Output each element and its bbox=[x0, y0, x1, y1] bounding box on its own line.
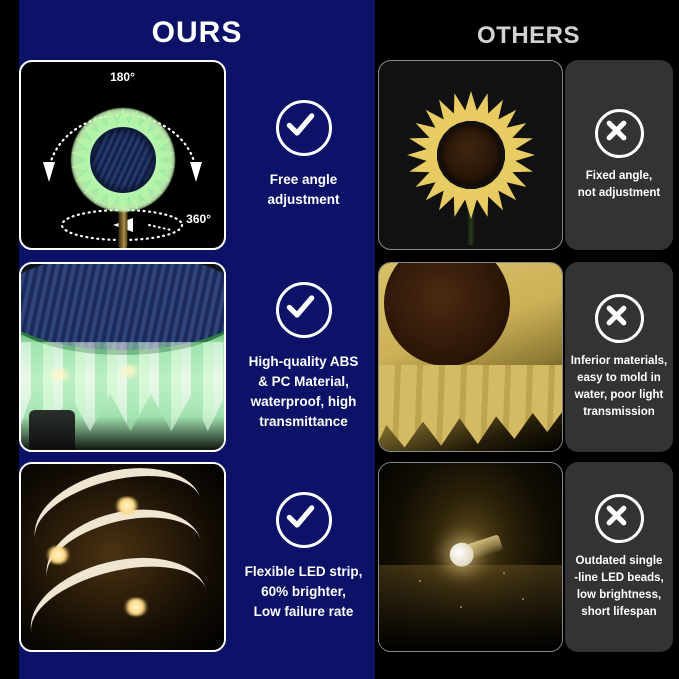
rotation-angle-label: 360° bbox=[186, 212, 211, 226]
light-base bbox=[29, 410, 75, 450]
led-glow bbox=[123, 598, 149, 616]
sunflower-macro-illustration bbox=[379, 263, 562, 451]
ours-caption: Flexible LED strip,60% brighter,Low fail… bbox=[243, 562, 365, 622]
wet-ground bbox=[379, 565, 562, 651]
ours-caption: High-quality ABS& PC Material,waterproof… bbox=[247, 352, 361, 432]
others-image-card bbox=[378, 60, 563, 250]
comparison-row: Flexible LED strip,60% brighter,Low fail… bbox=[0, 462, 679, 656]
check-circle-icon bbox=[276, 100, 332, 156]
headings-row: OURS OTHERS bbox=[0, 0, 679, 62]
rotation-diagram-illustration: 180° 360° bbox=[21, 62, 224, 248]
translucent-petals-illustration bbox=[21, 264, 224, 450]
water-speck bbox=[460, 606, 462, 608]
led-strip-illustration bbox=[21, 464, 224, 650]
ours-feature-block: Flexible LED strip,60% brighter,Low fail… bbox=[232, 462, 375, 652]
ours-title: OURS bbox=[19, 16, 375, 50]
ours-feature-block: High-quality ABS& PC Material,waterproof… bbox=[232, 262, 375, 452]
others-caption: Fixed angle,not adjustment bbox=[575, 168, 663, 202]
comparison-row: 180° 360° Free angleadjustment bbox=[0, 60, 679, 254]
solar-flower-head bbox=[71, 108, 175, 212]
others-image-card bbox=[378, 262, 563, 452]
solar-panel-disc bbox=[19, 262, 226, 355]
cross-circle-icon bbox=[595, 494, 644, 543]
ours-image-card: 180° 360° bbox=[19, 60, 226, 250]
others-caption: Outdated single-line LED beads,low brigh… bbox=[571, 553, 666, 621]
others-caption: Inferior materials,easy to mold inwater,… bbox=[568, 353, 671, 421]
sunflower-center bbox=[384, 262, 510, 366]
check-circle-icon bbox=[276, 282, 332, 338]
cross-circle-icon bbox=[595, 109, 644, 158]
sunflower-center bbox=[440, 124, 502, 186]
others-feature-block: Fixed angle,not adjustment bbox=[565, 60, 673, 250]
led-glow bbox=[45, 546, 71, 564]
ours-caption: Free angleadjustment bbox=[265, 170, 341, 210]
ours-image-card bbox=[19, 262, 226, 452]
comparison-row: High-quality ABS& PC Material,waterproof… bbox=[0, 262, 679, 456]
check-circle-icon bbox=[276, 492, 332, 548]
others-feature-block: Outdated single-line LED beads,low brigh… bbox=[565, 462, 673, 652]
solar-panel-disc bbox=[90, 127, 156, 193]
others-image-card bbox=[378, 462, 563, 652]
wet-led-bulb-illustration bbox=[379, 463, 562, 651]
ours-image-card bbox=[19, 462, 226, 652]
others-feature-block: Inferior materials,easy to mold inwater,… bbox=[565, 262, 673, 452]
comparison-infographic: OURS OTHERS 180° 360° bbox=[0, 0, 679, 679]
water-speck bbox=[419, 580, 421, 582]
cross-circle-icon bbox=[595, 294, 644, 343]
sunflower-head bbox=[407, 91, 535, 219]
yellow-sunflower-illustration bbox=[379, 61, 562, 249]
tilt-angle-label: 180° bbox=[110, 70, 135, 84]
ours-feature-block: Free angleadjustment bbox=[232, 60, 375, 250]
others-title: OTHERS bbox=[378, 22, 679, 50]
sunflower-petals bbox=[379, 365, 562, 451]
